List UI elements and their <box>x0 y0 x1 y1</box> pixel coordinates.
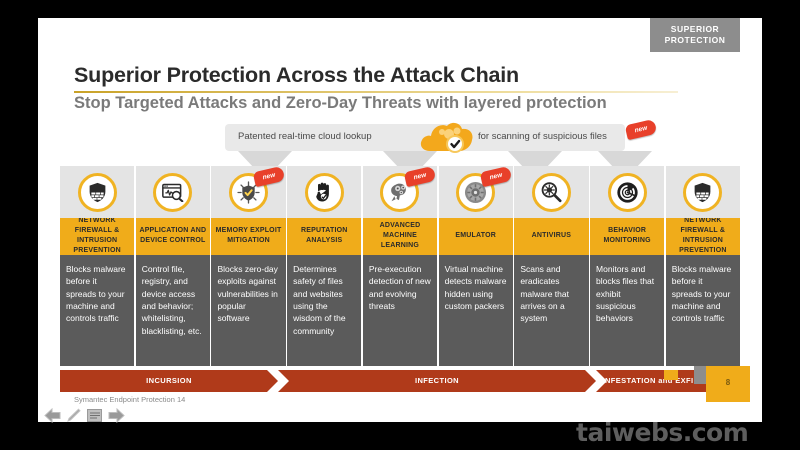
column-description: Pre-execution detection of new and evolv… <box>363 255 437 366</box>
page-number: 8 <box>706 378 750 387</box>
protection-layer-column[interactable]: REPUTATION ANALYSISDetermines safety of … <box>287 166 361 366</box>
title-divider <box>74 91 678 93</box>
funnel-arrow <box>598 151 652 167</box>
attack-phase: INFECTION <box>278 370 596 392</box>
funnel-arrow <box>383 151 437 167</box>
magnifier-virus-icon <box>532 173 571 212</box>
badge-line-1: SUPERIOR <box>671 24 719 35</box>
new-tag-icon: new <box>252 166 285 187</box>
banner-right-text: for scanning of suspicious files <box>478 131 607 142</box>
column-heading: ANTIVIRUS <box>514 218 588 255</box>
browser-search-icon <box>153 173 192 212</box>
new-tag-icon: new <box>625 119 658 140</box>
column-description: Scans and eradicates malware that arrive… <box>514 255 588 366</box>
pen-icon[interactable] <box>66 408 81 423</box>
column-heading: MEMORY EXPLOIT MITIGATION <box>211 218 285 255</box>
page-subtitle: Stop Targeted Attacks and Zero-Day Threa… <box>74 94 607 113</box>
column-heading: EMULATOR <box>439 218 513 255</box>
column-heading: BEHAVIOR MONITORING <box>590 218 664 255</box>
presentation-slide: SUPERIOR PROTECTION Superior Protection … <box>38 18 762 422</box>
new-tag-icon: new <box>404 166 437 187</box>
decoration-gray <box>694 366 706 384</box>
protection-layer-column[interactable]: newMEMORY EXPLOIT MITIGATIONBlocks zero-… <box>211 166 285 366</box>
protection-layer-column[interactable]: NETWORK FIREWALL & INTRUSION PREVENTIONB… <box>60 166 134 366</box>
protection-layer-column[interactable]: ANTIVIRUSScans and eradicates malware th… <box>514 166 588 366</box>
new-tag-icon: new <box>480 166 513 187</box>
column-icon-area <box>136 166 210 218</box>
forward-arrow-icon[interactable] <box>108 408 125 423</box>
protection-layer-column[interactable]: newADVANCED MACHINE LEARNINGPre-executio… <box>363 166 437 366</box>
viewer-navigation-bar <box>44 408 125 423</box>
banner-left-text: Patented real-time cloud lookup <box>238 131 372 142</box>
hand-stop-icon <box>305 173 344 212</box>
funnel-arrow <box>508 151 562 167</box>
column-icon-area: new <box>439 166 513 218</box>
page-title: Superior Protection Across the Attack Ch… <box>74 63 519 88</box>
menu-icon[interactable] <box>86 408 103 423</box>
column-heading: APPLICATION AND DEVICE CONTROL <box>136 218 210 255</box>
protection-layer-column[interactable]: APPLICATION AND DEVICE CONTROLControl fi… <box>136 166 210 366</box>
column-icon-area <box>666 166 740 218</box>
protection-layer-column[interactable]: BEHAVIOR MONITORINGMonitors and blocks f… <box>590 166 664 366</box>
watermark: taiwebs.com <box>576 418 748 447</box>
protection-layer-column[interactable]: NETWORK FIREWALL & INTRUSION PREVENTIONB… <box>666 166 740 366</box>
column-icon-area <box>590 166 664 218</box>
shield-firewall-icon <box>78 173 117 212</box>
protection-layer-columns: NETWORK FIREWALL & INTRUSION PREVENTIONB… <box>60 166 740 366</box>
column-description: Determines safety of files and websites … <box>287 255 361 366</box>
attack-chain-phase-bar: INCURSIONINFECTIONINFESTATION and EXFILT… <box>60 370 740 392</box>
column-heading: REPUTATION ANALYSIS <box>287 218 361 255</box>
protection-layer-column[interactable]: newEMULATORVirtual machine detects malwa… <box>439 166 513 366</box>
column-description: Virtual machine detects malware hidden u… <box>439 255 513 366</box>
column-heading: ADVANCED MACHINE LEARNING <box>363 218 437 255</box>
column-description: Monitors and blocks files that exhibit s… <box>590 255 664 366</box>
column-heading: NETWORK FIREWALL & INTRUSION PREVENTION <box>60 218 134 255</box>
column-icon-area <box>287 166 361 218</box>
shield-firewall-icon <box>683 173 722 212</box>
column-heading: NETWORK FIREWALL & INTRUSION PREVENTION <box>666 218 740 255</box>
attack-phase: INCURSION <box>60 370 278 392</box>
column-icon-area <box>60 166 134 218</box>
footer-product-label: Symantec Endpoint Protection 14 <box>74 395 185 404</box>
funnel-arrow <box>238 151 292 167</box>
badge-line-2: PROTECTION <box>665 35 726 46</box>
screenshot-frame: SUPERIOR PROTECTION Superior Protection … <box>0 0 800 450</box>
column-description: Blocks zero-day exploits against vulnera… <box>211 255 285 366</box>
status-badge: SUPERIOR PROTECTION <box>650 18 740 52</box>
radar-monitor-icon <box>608 173 647 212</box>
column-description: Blocks malware before it spreads to your… <box>60 255 134 366</box>
column-description: Blocks malware before it spreads to your… <box>666 255 740 366</box>
column-icon-area: new <box>211 166 285 218</box>
column-icon-area <box>514 166 588 218</box>
decoration-orange <box>664 370 678 380</box>
column-icon-area: new <box>363 166 437 218</box>
back-arrow-icon[interactable] <box>44 408 61 423</box>
column-description: Control file, registry, and device acces… <box>136 255 210 366</box>
